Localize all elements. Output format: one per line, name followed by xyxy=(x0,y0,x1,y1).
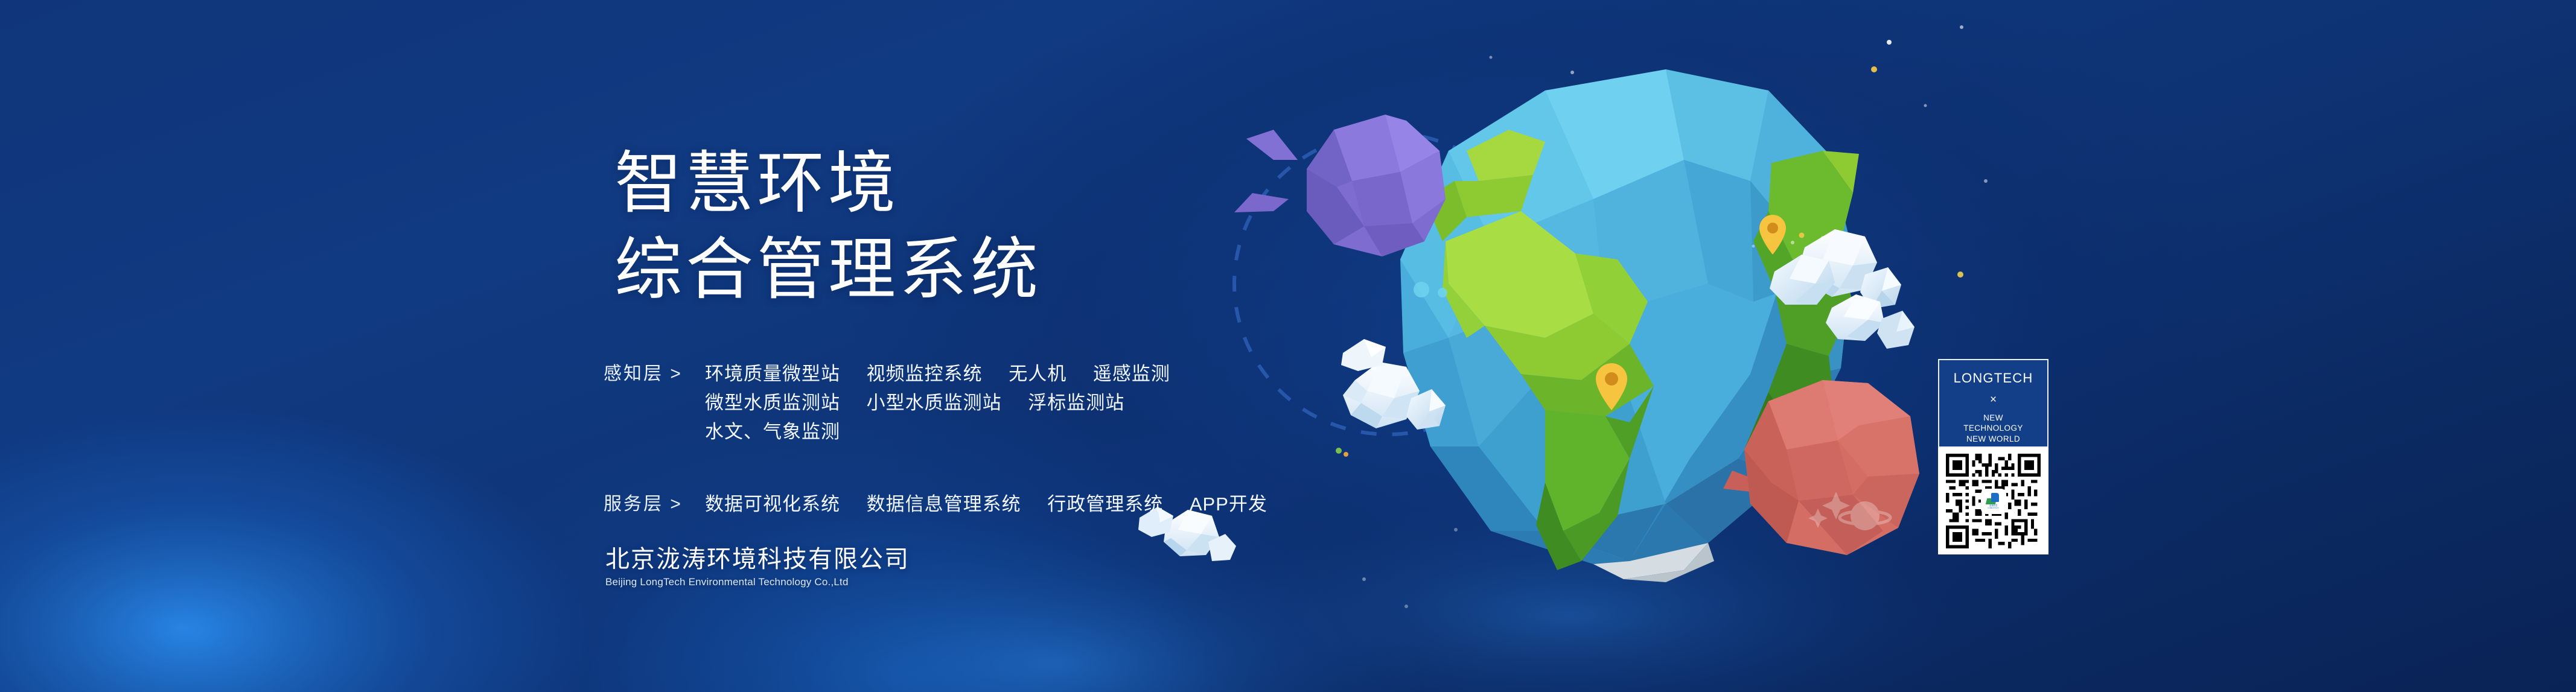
layer-item[interactable]: 浮标监测站 xyxy=(1028,392,1124,413)
layer-line: 微型水质监测站 小型水质监测站 浮标监测站 xyxy=(705,389,1170,417)
cross-icon: × xyxy=(1990,394,1997,405)
layer-item[interactable]: 数据信息管理系统 xyxy=(867,494,1021,515)
layer-items-service: 数据可视化系统 数据信息管理系统 行政管理系统 APP开发 xyxy=(705,490,1267,519)
qr-card-header: LONGTECH × NEW TECHNOLOGY NEW WORLD xyxy=(1938,359,2048,448)
qr-code-panel[interactable]: 泷涛环境 LONGTECH xyxy=(1938,448,2048,554)
layer-item[interactable]: 遥感监测 xyxy=(1093,363,1170,384)
layer-item[interactable]: 数据可视化系统 xyxy=(705,494,840,515)
banner-root: 智慧环境 综合管理系统 感知层 > 环境质量微型站 视频监控系统 无人机 遥感监… xyxy=(0,0,2576,692)
layer-row-service: 服务层 > 数据可视化系统 数据信息管理系统 行政管理系统 APP开发 xyxy=(604,490,1207,519)
layer-item[interactable]: 行政管理系统 xyxy=(1047,494,1163,515)
layer-line: 数据可视化系统 数据信息管理系统 行政管理系统 APP开发 xyxy=(705,490,1267,519)
layer-line: 环境质量微型站 视频监控系统 无人机 遥感监测 xyxy=(705,360,1170,389)
qr-card: LONGTECH × NEW TECHNOLOGY NEW WORLD xyxy=(1938,359,2048,554)
layer-items-sensing: 环境质量微型站 视频监控系统 无人机 遥感监测 微型水质监测站 小型水质监测站 … xyxy=(705,360,1170,446)
layer-label-service: 服务层 > xyxy=(604,490,705,519)
layer-label-sensing: 感知层 > xyxy=(604,360,705,389)
purple-planet xyxy=(1234,115,1446,256)
brand-name: LONGTECH xyxy=(1954,372,2033,385)
company-signature: 北京泷涛环境科技有限公司 Beijing LongTech Environmen… xyxy=(605,546,910,588)
layer-item[interactable]: 微型水质监测站 xyxy=(705,392,840,413)
layer-item[interactable]: APP开发 xyxy=(1190,494,1267,515)
layer-item[interactable]: 水文、气象监测 xyxy=(705,421,840,442)
space-illustration xyxy=(0,0,2576,692)
layer-item[interactable]: 无人机 xyxy=(1009,363,1066,384)
qr-logo-text: 泷涛环境 LONGTECH xyxy=(1988,505,1998,509)
company-name-en: Beijing LongTech Environmental Technolog… xyxy=(605,576,910,588)
company-name-cn: 北京泷涛环境科技有限公司 xyxy=(605,546,910,573)
layer-list: 感知层 > 环境质量微型站 视频监控系统 无人机 遥感监测 微型水质监测站 小型… xyxy=(604,360,1207,535)
qr-center-logo: 泷涛环境 LONGTECH xyxy=(1982,490,2005,513)
layer-item[interactable]: 视频监控系统 xyxy=(867,363,983,384)
layer-line: 水文、气象监测 xyxy=(705,417,1170,446)
layer-item[interactable]: 小型水质监测站 xyxy=(867,392,1002,413)
layer-item[interactable]: 环境质量微型站 xyxy=(705,363,840,384)
longtech-mark-icon xyxy=(1986,493,2001,504)
page-title: 智慧环境 综合管理系统 xyxy=(614,140,1042,313)
brand-tagline: NEW TECHNOLOGY NEW WORLD xyxy=(1963,413,2023,444)
layer-row-sensing: 感知层 > 环境质量微型站 视频监控系统 无人机 遥感监测 微型水质监测站 小型… xyxy=(604,360,1207,446)
